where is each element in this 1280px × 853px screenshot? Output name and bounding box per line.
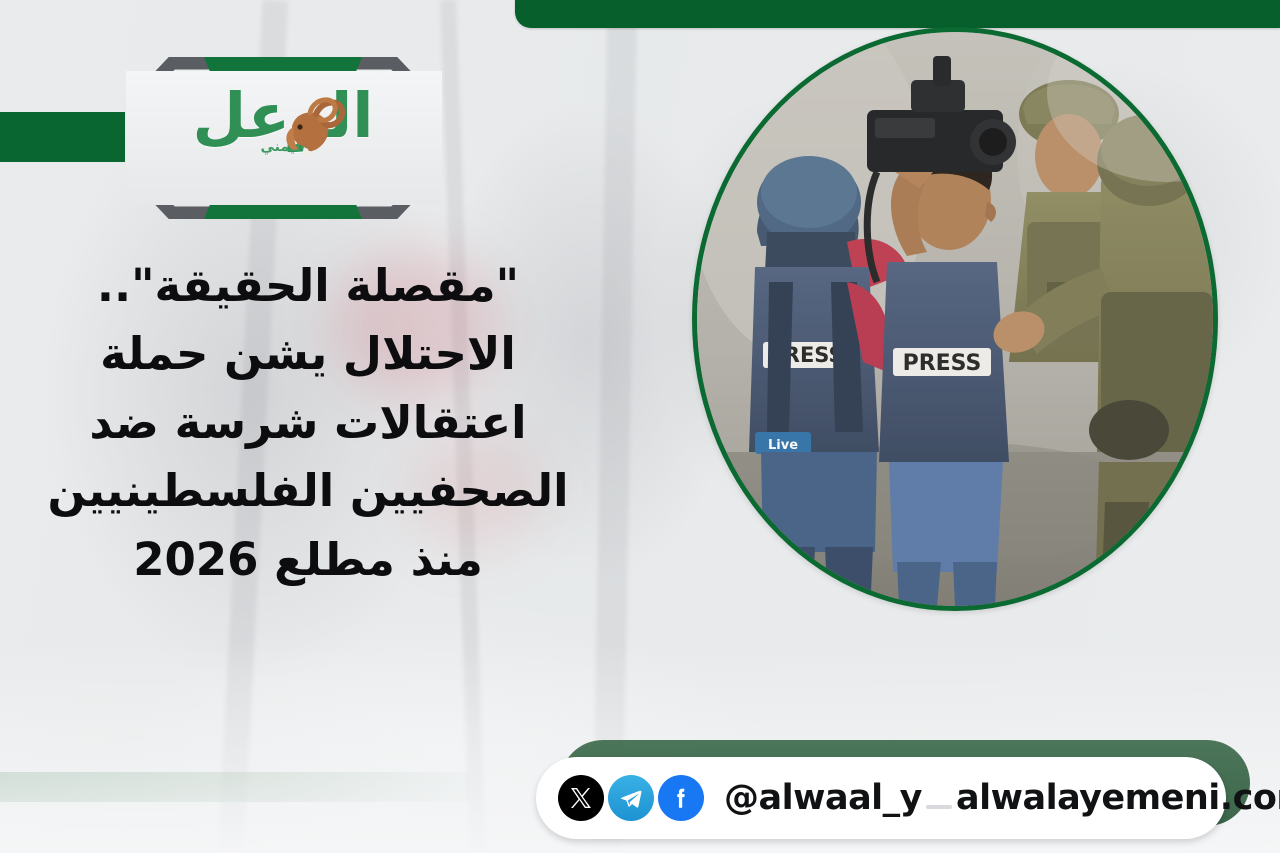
website-url[interactable]: alwalayemeni.com <box>956 778 1280 818</box>
top-green-bar <box>515 0 1280 28</box>
ibex-head-icon <box>276 97 346 159</box>
footer-handles: @alwaal_y alwalayemeni.com <box>724 778 1280 818</box>
social-icons <box>558 775 704 821</box>
facebook-glyph <box>668 785 694 811</box>
headline: "مقصلة الحقيقة".. الاحتلال يشن حملة اعتق… <box>18 252 598 594</box>
telegram-glyph <box>619 786 644 811</box>
hero-photo: PRESS Live PRESS <box>692 27 1218 611</box>
x-glyph <box>569 786 593 810</box>
logo[interactable]: الوعل اليمني <box>92 57 474 219</box>
telegram-icon[interactable] <box>608 775 654 821</box>
handle-separator <box>926 805 952 809</box>
social-handle[interactable]: @alwaal_y <box>724 778 922 818</box>
news-card: الوعل اليمني <box>0 0 1280 853</box>
footer-bar: @alwaal_y alwalayemeni.com <box>536 757 1226 839</box>
facebook-icon[interactable] <box>658 775 704 821</box>
headline-line-5: منذ مطلع 2026 <box>18 526 598 594</box>
hero-photo-image: PRESS Live PRESS <box>697 32 1213 606</box>
headline-line-2: الاحتلال يشن حملة <box>18 320 598 388</box>
headline-line-3: اعتقالات شرسة ضد <box>18 389 598 457</box>
headline-line-1: "مقصلة الحقيقة".. <box>18 252 598 320</box>
headline-line-4: الصحفيين الفلسطينيين <box>18 457 598 525</box>
x-twitter-icon[interactable] <box>558 775 604 821</box>
